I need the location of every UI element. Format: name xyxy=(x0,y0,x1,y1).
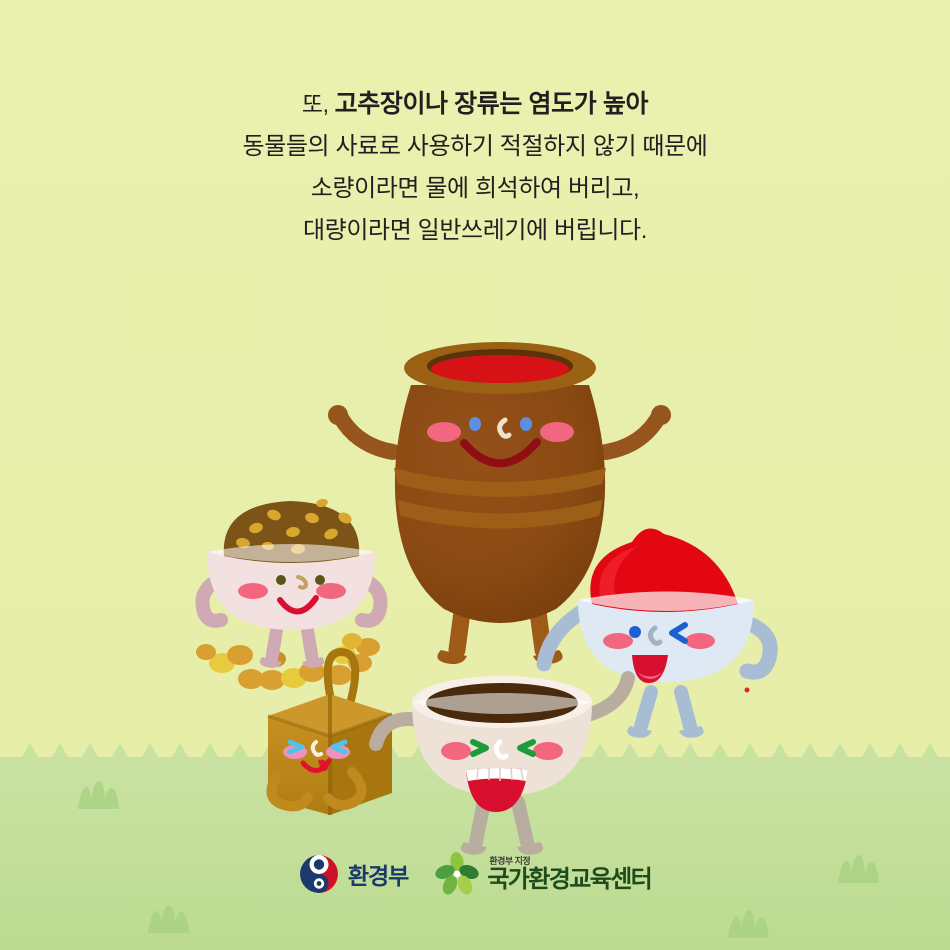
grass-ground xyxy=(0,743,950,950)
message-line-2: 동물들의 사료로 사용하기 적절하지 않기 때문에 xyxy=(0,135,950,159)
message-line-4: 대량이라면 일반쓰레기에 버립니다. xyxy=(0,219,950,243)
center-sub-label: 환경부 지정 xyxy=(489,857,530,866)
message-line-1-emphasis: 고추장이나 장류는 염도가 높아 xyxy=(335,90,648,118)
message-line-1: 또, 고추장이나 장류는 염도가 높아 xyxy=(0,92,950,117)
flower-icon xyxy=(434,852,480,896)
message-line-1-prefix: 또, xyxy=(302,91,335,117)
footer-logos: 환경부 환경부 지정 국가환경교육센터 xyxy=(0,852,950,896)
ministry-of-environment-logo: 환경부 xyxy=(299,854,408,894)
center-label: 국가환경교육센터 xyxy=(487,868,651,892)
message-copy: 또, 고추장이나 장류는 염도가 높아 동물들의 사료로 사용하기 적절하지 않… xyxy=(0,92,950,243)
infographic-card: 또, 고추장이나 장류는 염도가 높아 동물들의 사료로 사용하기 적절하지 않… xyxy=(0,0,950,950)
message-line-3: 소량이라면 물에 희석하여 버리고, xyxy=(0,177,950,201)
national-env-education-center-logo: 환경부 지정 국가환경교육센터 xyxy=(434,852,651,896)
taegeuk-icon xyxy=(299,854,339,894)
ministry-label: 환경부 xyxy=(348,857,408,891)
